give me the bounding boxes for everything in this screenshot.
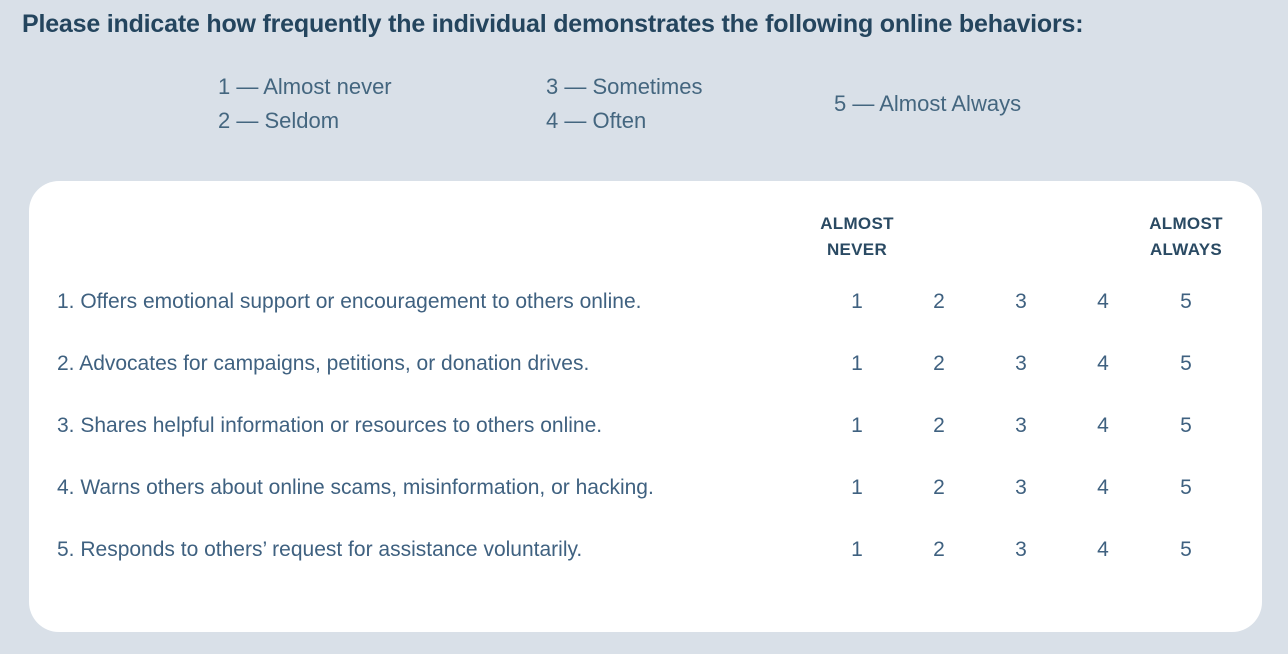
rating-option-1[interactable]: 1 [837, 286, 877, 318]
rating-option-1[interactable]: 1 [837, 534, 877, 566]
rating-options: 1 2 3 4 5 [29, 286, 1262, 318]
rating-option-1[interactable]: 1 [837, 348, 877, 380]
rating-option-5[interactable]: 5 [1166, 286, 1206, 318]
rating-option-5[interactable]: 5 [1166, 472, 1206, 504]
rating-option-4[interactable]: 4 [1083, 534, 1123, 566]
table-row: 5. Responds to others’ request for assis… [29, 534, 1262, 596]
rating-option-5[interactable]: 5 [1166, 348, 1206, 380]
rating-option-3[interactable]: 3 [1001, 348, 1041, 380]
table-row: 4. Warns others about online scams, misi… [29, 472, 1262, 534]
rating-option-3[interactable]: 3 [1001, 534, 1041, 566]
anchor-label-almost-never: ALMOST NEVER [782, 211, 932, 263]
rating-options: 1 2 3 4 5 [29, 348, 1262, 380]
anchor-line: NEVER [782, 237, 932, 263]
rating-option-1[interactable]: 1 [837, 472, 877, 504]
rating-option-4[interactable]: 4 [1083, 286, 1123, 318]
legend-column-2: 3 — Sometimes 4 — Often [546, 70, 834, 138]
table-row: 1. Offers emotional support or encourage… [29, 286, 1262, 348]
rating-options: 1 2 3 4 5 [29, 472, 1262, 504]
rating-option-3[interactable]: 3 [1001, 472, 1041, 504]
legend-item: 1 — Almost never [218, 70, 546, 104]
rating-option-5[interactable]: 5 [1166, 410, 1206, 442]
rating-option-2[interactable]: 2 [919, 410, 959, 442]
legend-item: 4 — Often [546, 104, 834, 138]
rating-option-2[interactable]: 2 [919, 286, 959, 318]
page-title: Please indicate how frequently the indiv… [22, 10, 1083, 39]
legend-item: 5 — Almost Always [834, 87, 1094, 121]
legend-item: 2 — Seldom [218, 104, 546, 138]
rating-options: 1 2 3 4 5 [29, 410, 1262, 442]
anchor-line: ALMOST [1111, 211, 1261, 237]
rating-option-2[interactable]: 2 [919, 472, 959, 504]
scale-legend: 1 — Almost never 2 — Seldom 3 — Sometime… [218, 70, 1094, 138]
matrix-header: ALMOST NEVER ALMOST ALWAYS [29, 211, 1262, 273]
survey-card: ALMOST NEVER ALMOST ALWAYS 1. Offers emo… [29, 181, 1262, 632]
rating-option-4[interactable]: 4 [1083, 410, 1123, 442]
legend-item: 3 — Sometimes [546, 70, 834, 104]
rating-option-3[interactable]: 3 [1001, 410, 1041, 442]
table-row: 3. Shares helpful information or resourc… [29, 410, 1262, 472]
anchor-line: ALMOST [782, 211, 932, 237]
rating-option-4[interactable]: 4 [1083, 472, 1123, 504]
matrix-rows: 1. Offers emotional support or encourage… [29, 286, 1262, 596]
rating-option-3[interactable]: 3 [1001, 286, 1041, 318]
rating-option-4[interactable]: 4 [1083, 348, 1123, 380]
legend-column-3: 5 — Almost Always [834, 87, 1094, 121]
rating-option-2[interactable]: 2 [919, 534, 959, 566]
rating-option-5[interactable]: 5 [1166, 534, 1206, 566]
anchor-label-almost-always: ALMOST ALWAYS [1111, 211, 1261, 263]
rating-option-2[interactable]: 2 [919, 348, 959, 380]
rating-options: 1 2 3 4 5 [29, 534, 1262, 566]
table-row: 2. Advocates for campaigns, petitions, o… [29, 348, 1262, 410]
anchor-line: ALWAYS [1111, 237, 1261, 263]
rating-option-1[interactable]: 1 [837, 410, 877, 442]
legend-column-1: 1 — Almost never 2 — Seldom [218, 70, 546, 138]
